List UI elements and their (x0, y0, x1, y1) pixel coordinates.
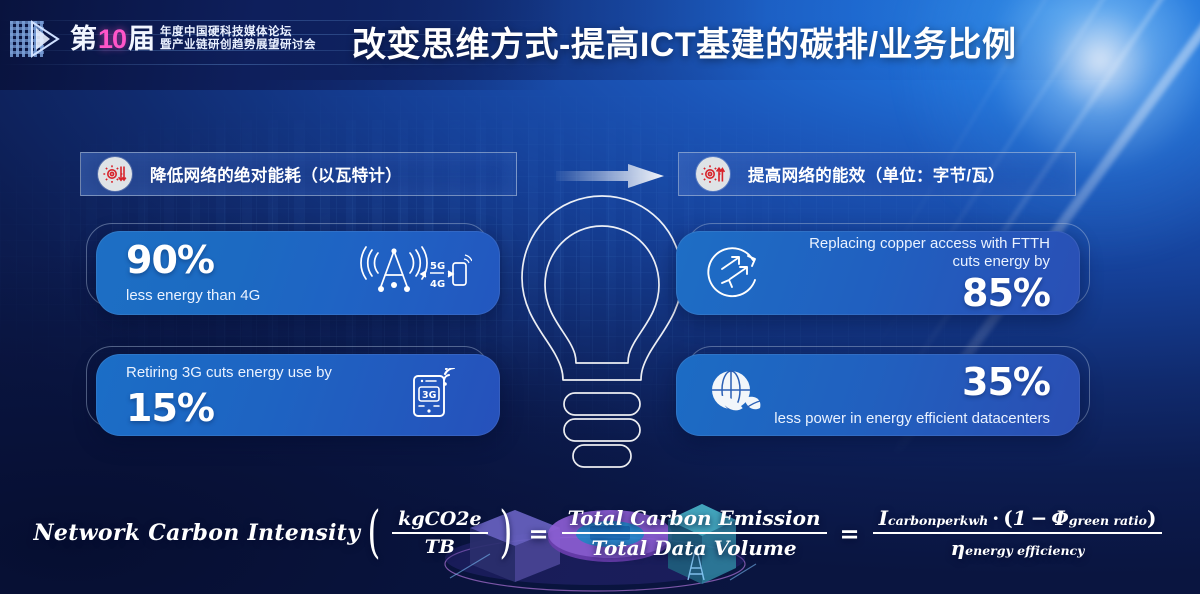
pill-improve-energy-efficiency[interactable]: 提高网络的能效（单位：字节/瓦） (678, 152, 1076, 196)
pill-right-label: 提高网络的能效（单位：字节/瓦） (748, 162, 1005, 186)
formula-unit-fraction: kgCO2e TB (392, 508, 487, 558)
card-caption-line1: Replacing copper access with FTTH (809, 235, 1050, 253)
logo-edition-prefix: 第 (70, 26, 96, 53)
carbon-intensity-formula: Network Carbon Intensity ( kgCO2e TB ) =… (0, 497, 1200, 569)
logo-subtitle: 年度中国硬科技媒体论坛 暨产业链研创趋势展望研讨会 (160, 26, 316, 52)
formula-name: Network Carbon Intensity (34, 520, 361, 546)
play-arrow-icon (30, 19, 60, 59)
formula-unit-numerator: kgCO2e (392, 508, 487, 532)
formula-paren-open: ( (368, 508, 381, 558)
svg-text:4G: 4G (430, 279, 445, 290)
circular-arrows-icon (704, 242, 766, 305)
formula-one: 1 (1013, 506, 1027, 530)
formula-eta: η (951, 536, 966, 560)
pill-left-label: 降低网络的绝对能耗（以瓦特计） (150, 162, 402, 186)
formula-term-i: I (879, 506, 888, 530)
formula-minus: − (1031, 506, 1048, 530)
card-ftth-energy[interactable]: Replacing copper access with FTTH cuts e… (676, 231, 1080, 315)
logo-subtitle-line2: 暨产业链研创趋势展望研讨会 (160, 39, 316, 52)
play-arrow-pixel-logo-icon (8, 15, 64, 63)
globe-leaf-icon (706, 366, 768, 425)
formula-frac2-numerator: Icarbonperkwh·(1−Φgreen ratio) (873, 506, 1163, 532)
page-title: 改变思维方式-提高ICT基建的碳排/业务比例 (352, 17, 1017, 66)
card-caption-line2: cuts energy by (952, 253, 1050, 271)
formula-frac1-numerator: Total Carbon Emission (562, 506, 827, 532)
card-stat: 85% (962, 274, 1050, 312)
logo-edition-number: 10 (98, 26, 126, 53)
pill-reduce-absolute-energy[interactable]: 降低网络的绝对能耗（以瓦特计） (80, 152, 517, 196)
card-stat: 15% (126, 389, 332, 427)
formula-dot: · (992, 506, 999, 530)
cell-tower-5g-4g-phone-icon: 5G 4G (360, 245, 472, 302)
formula-equals-1: = (528, 519, 548, 548)
card-5g-energy[interactable]: 90% less energy than 4G 5G 4G (96, 231, 500, 315)
card-caption: less energy than 4G (126, 287, 260, 305)
formula-fraction-2: Icarbonperkwh·(1−Φgreen ratio) ηenergy e… (873, 506, 1163, 560)
formula-paren-open-2: ( (1003, 506, 1012, 530)
formula-paren-close-2: ) (1147, 506, 1156, 530)
logo-subtitle-line1: 年度中国硬科技媒体论坛 (160, 26, 316, 39)
formula-phi-sub: green ratio (1069, 513, 1147, 528)
card-3g-retire[interactable]: Retiring 3G cuts energy use by 15% 3G (96, 354, 500, 436)
formula-term-i-sub: carbonperkwh (888, 513, 988, 528)
formula-phi: Φ (1051, 506, 1068, 530)
card-text-block: 90% less energy than 4G (126, 241, 260, 305)
formula-equals-2: = (840, 519, 860, 548)
card-stat: 35% (962, 363, 1050, 401)
formula-fraction-1: Total Carbon Emission Total Data Volume (562, 506, 827, 560)
card-caption: less power in energy efficient datacente… (774, 410, 1050, 428)
logo-edition-suffix: 届 (128, 26, 154, 53)
logo-edition: 第10届 (70, 26, 154, 53)
card-stat: 90% (126, 241, 260, 279)
slide-root: 第10届 年度中国硬科技媒体论坛 暨产业链研创趋势展望研讨会 改变思维方式-提高… (0, 0, 1200, 594)
svg-text:3G: 3G (422, 390, 437, 401)
formula-frac2-denominator: ηenergy efficiency (945, 534, 1091, 560)
formula-paren-close: ) (499, 508, 512, 558)
card-text-block: Retiring 3G cuts energy use by 15% (126, 364, 332, 427)
card-datacenter[interactable]: 35% less power in energy efficient datac… (676, 354, 1080, 436)
formula-unit-denominator: TB (419, 534, 461, 558)
phone-3g-signal-icon: 3G (408, 368, 462, 423)
event-logo: 第10届 年度中国硬科技媒体论坛 暨产业链研创趋势展望研讨会 (8, 8, 316, 70)
svg-text:5G: 5G (430, 261, 445, 272)
formula-eta-sub: energy efficiency (965, 543, 1084, 558)
formula-frac1-denominator: Total Data Volume (585, 534, 802, 560)
card-caption: Retiring 3G cuts energy use by (126, 364, 332, 382)
gear-down-arrow-icon (98, 157, 132, 191)
card-text-block: 35% less power in energy efficient datac… (774, 363, 1050, 428)
card-text-block: Replacing copper access with FTTH cuts e… (809, 235, 1050, 312)
